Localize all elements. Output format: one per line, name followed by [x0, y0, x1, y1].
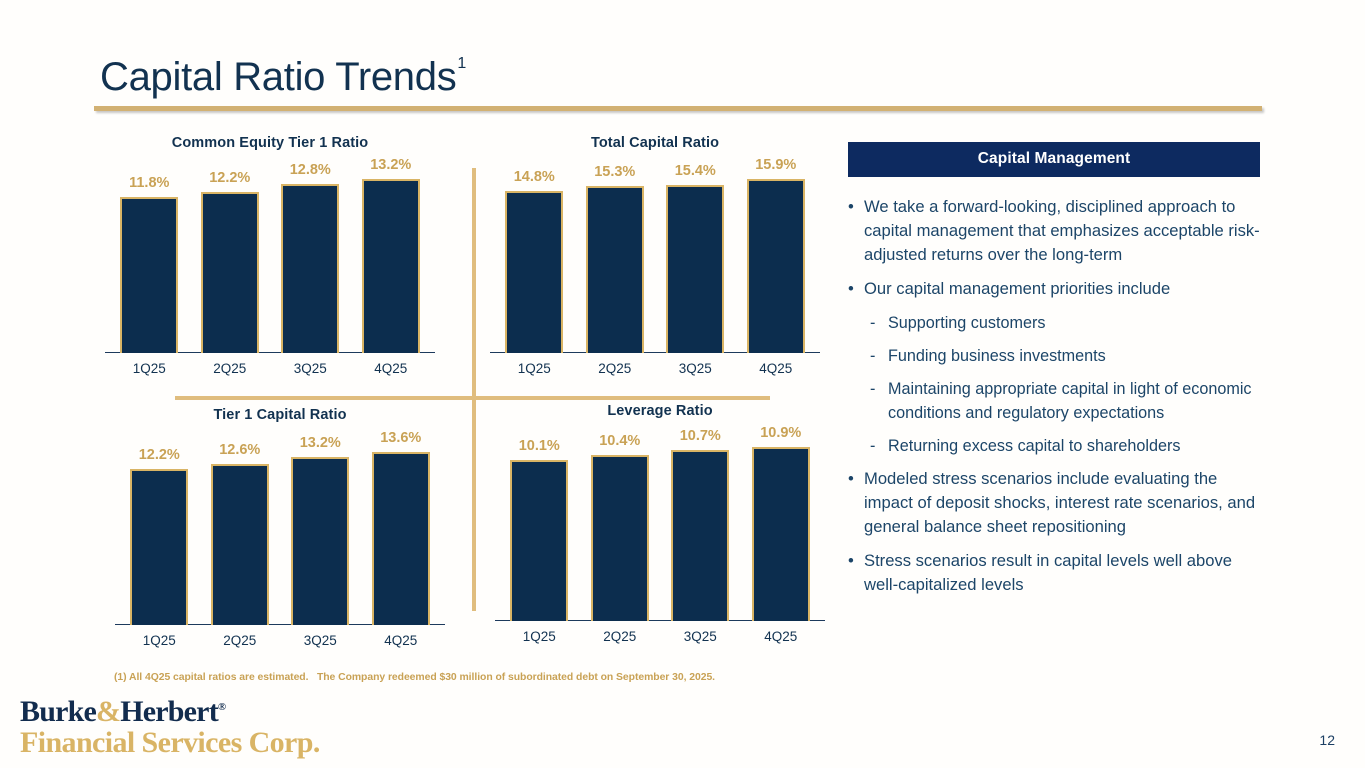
panel-header-title: Capital Management [848, 142, 1260, 177]
bar [120, 197, 178, 353]
page-number: 12 [1319, 732, 1335, 748]
page-title-text: Capital Ratio Trends [100, 55, 456, 99]
bar [666, 185, 724, 353]
bar-slot: 12.2% [201, 163, 259, 353]
bar [591, 455, 649, 621]
category-label: 1Q25 [120, 361, 178, 376]
bar-slot: 15.3% [586, 163, 644, 353]
chart-category-axis: 1Q25 2Q25 3Q25 4Q25 [485, 629, 835, 644]
bar-value-label: 10.4% [599, 433, 640, 449]
bar [201, 192, 259, 353]
bar-slot: 12.6% [211, 435, 269, 625]
bar [372, 452, 430, 625]
bar [747, 179, 805, 353]
chart-plot-area: 10.1% 10.4% 10.7% 10.9% [485, 431, 835, 621]
bullet-text: Returning excess capital to shareholders [888, 434, 1260, 458]
bullet-text: Funding business investments [888, 344, 1260, 368]
bar-value-label: 12.6% [219, 442, 260, 458]
dash-marker-icon: - [870, 344, 888, 368]
chart-category-axis: 1Q25 2Q25 3Q25 4Q25 [105, 633, 455, 648]
logo-line-1: Burke&Herbert® [20, 697, 320, 727]
page-title-footnote-marker: 1 [457, 55, 466, 72]
bar-slot: 10.4% [591, 431, 649, 621]
logo-ampersand: & [96, 695, 120, 728]
logo-line-2: Financial Services Corp. [20, 728, 320, 758]
bar-slot: 12.2% [130, 435, 188, 625]
logo-herbert: Herbert [120, 695, 218, 728]
sub-bullet-item: -Funding business investments [870, 344, 1260, 368]
category-label: 3Q25 [671, 629, 729, 644]
bar-value-label: 11.8% [129, 175, 169, 191]
bar-value-label: 15.3% [594, 164, 635, 180]
bullet-marker-icon: • [848, 277, 864, 301]
dash-marker-icon: - [870, 434, 888, 458]
category-label: 2Q25 [201, 361, 259, 376]
sub-bullet-item: -Maintaining appropriate capital in ligh… [870, 377, 1260, 425]
bar-slot: 13.6% [372, 435, 430, 625]
bullet-marker-icon: • [848, 549, 864, 597]
company-logo: Burke&Herbert® Financial Services Corp. [20, 697, 320, 758]
chart-common-equity-tier-1-ratio: Common Equity Tier 1 Ratio 11.8% 12.2% 1… [95, 135, 445, 390]
panel-bullet-list: •We take a forward-looking, disciplined … [848, 195, 1260, 597]
bar-slot: 15.4% [666, 163, 724, 353]
bar [752, 447, 810, 621]
chart-title: Tier 1 Capital Ratio [105, 407, 455, 423]
chart-total-capital-ratio: Total Capital Ratio 14.8% 15.3% 15.4% 15… [480, 135, 830, 390]
chart-title: Total Capital Ratio [480, 135, 830, 151]
bar-slot: 15.9% [747, 163, 805, 353]
page-title: Capital Ratio Trends1 [100, 55, 465, 100]
bar-value-label: 13.6% [380, 430, 421, 446]
bar [510, 460, 568, 621]
bar-slot: 13.2% [362, 163, 420, 353]
logo-registered-mark: ® [218, 701, 225, 713]
bar-value-label: 10.9% [760, 425, 801, 441]
horizontal-divider [175, 396, 770, 400]
bullet-text: We take a forward-looking, disciplined a… [864, 195, 1260, 267]
category-label: 4Q25 [752, 629, 810, 644]
category-label: 1Q25 [510, 629, 568, 644]
bar-value-label: 13.2% [300, 435, 341, 451]
bullet-text: Stress scenarios result in capital level… [864, 549, 1260, 597]
bar-value-label: 14.8% [514, 169, 555, 185]
category-label: 2Q25 [586, 361, 644, 376]
bullet-item: •Modeled stress scenarios include evalua… [848, 467, 1260, 539]
sub-bullet-item: -Supporting customers [870, 311, 1260, 335]
category-label: 1Q25 [505, 361, 563, 376]
chart-category-axis: 1Q25 2Q25 3Q25 4Q25 [480, 361, 830, 376]
chart-title: Common Equity Tier 1 Ratio [95, 135, 445, 151]
bar [211, 464, 269, 625]
chart-tier-1-capital-ratio: Tier 1 Capital Ratio 12.2% 12.6% 13.2% 1… [105, 407, 455, 662]
chart-plot-area: 12.2% 12.6% 13.2% 13.6% [105, 435, 455, 625]
bullet-text: Maintaining appropriate capital in light… [888, 377, 1260, 425]
chart-plot-area: 14.8% 15.3% 15.4% 15.9% [480, 163, 830, 353]
dash-marker-icon: - [870, 377, 888, 425]
bar [281, 184, 339, 353]
sub-bullet-item: -Returning excess capital to shareholder… [870, 434, 1260, 458]
chart-title: Leverage Ratio [485, 403, 835, 419]
bar-slot: 10.1% [510, 431, 568, 621]
bar-slot: 13.2% [291, 435, 349, 625]
category-label: 2Q25 [211, 633, 269, 648]
bar-value-label: 12.2% [209, 170, 250, 186]
vertical-divider [472, 168, 476, 611]
bar-value-label: 12.2% [139, 447, 180, 463]
chart-plot-area: 11.8% 12.2% 12.8% 13.2% [95, 163, 445, 353]
bar [671, 450, 729, 621]
bar [291, 457, 349, 625]
category-label: 2Q25 [591, 629, 649, 644]
bar [505, 191, 563, 353]
bullet-item: •We take a forward-looking, disciplined … [848, 195, 1260, 267]
bar-value-label: 15.4% [675, 163, 716, 179]
bullet-marker-icon: • [848, 467, 864, 539]
bar-value-label: 12.8% [290, 162, 331, 178]
category-label: 4Q25 [747, 361, 805, 376]
logo-burke: Burke [20, 695, 96, 728]
category-label: 4Q25 [372, 633, 430, 648]
capital-management-panel: Capital Management •We take a forward-lo… [848, 142, 1260, 607]
chart-category-axis: 1Q25 2Q25 3Q25 4Q25 [95, 361, 445, 376]
bar-value-label: 13.2% [370, 157, 411, 173]
bar-slot: 10.7% [671, 431, 729, 621]
bar-slot: 14.8% [505, 163, 563, 353]
category-label: 4Q25 [362, 361, 420, 376]
title-underline-rule [94, 106, 1262, 111]
bar-value-label: 10.1% [519, 438, 560, 454]
bullet-text: Our capital management priorities includ… [864, 277, 1260, 301]
bar-value-label: 15.9% [755, 157, 796, 173]
bar-slot: 12.8% [281, 163, 339, 353]
category-label: 3Q25 [291, 633, 349, 648]
bullet-marker-icon: • [848, 195, 864, 267]
footnote: (1) All 4Q25 capital ratios are estimate… [114, 672, 715, 683]
bar [586, 186, 644, 353]
bullet-text: Modeled stress scenarios include evaluat… [864, 467, 1260, 539]
bar-value-label: 10.7% [680, 428, 721, 444]
bullet-text: Supporting customers [888, 311, 1260, 335]
category-label: 1Q25 [130, 633, 188, 648]
charts-region: Common Equity Tier 1 Ratio 11.8% 12.2% 1… [95, 135, 835, 675]
bar [362, 179, 420, 353]
bar [130, 469, 188, 625]
category-label: 3Q25 [281, 361, 339, 376]
bullet-item: •Stress scenarios result in capital leve… [848, 549, 1260, 597]
bar-slot: 11.8% [120, 163, 178, 353]
chart-leverage-ratio: Leverage Ratio 10.1% 10.4% 10.7% 10.9% 1… [485, 403, 835, 658]
category-label: 3Q25 [666, 361, 724, 376]
bar-slot: 10.9% [752, 431, 810, 621]
bullet-item: •Our capital management priorities inclu… [848, 277, 1260, 301]
dash-marker-icon: - [870, 311, 888, 335]
